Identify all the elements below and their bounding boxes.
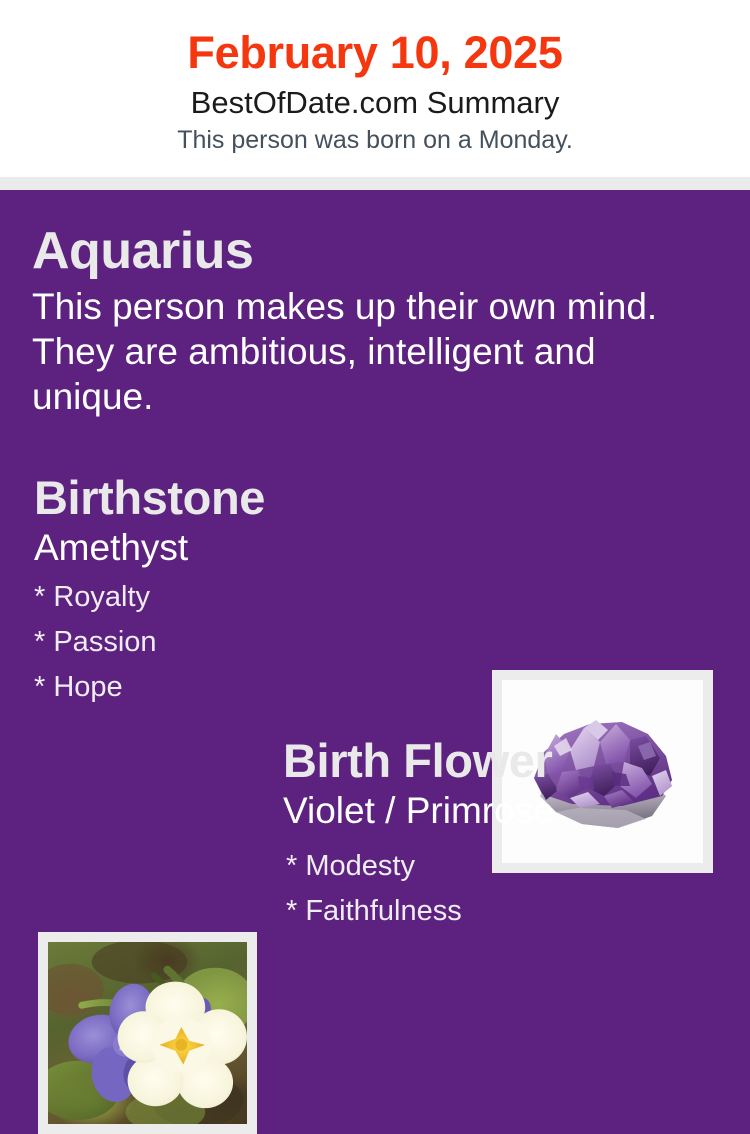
violet-and-primrose-icon <box>48 942 247 1124</box>
birthflower-heading: Birth Flower <box>283 734 733 788</box>
birthstone-trait-list: * Royalty * Passion * Hope <box>34 569 474 710</box>
content-panel: Aquarius This person makes up their own … <box>0 190 750 1000</box>
flower-photo <box>48 942 247 1124</box>
list-item: * Royalty <box>34 575 474 620</box>
list-item: * Modesty <box>283 844 733 889</box>
zodiac-sign-title: Aquarius <box>32 222 692 280</box>
birthflower-trait-list: * Modesty * Faithfulness <box>283 832 733 934</box>
list-item: * Hope <box>34 665 474 710</box>
list-item: * Passion <box>34 620 474 665</box>
zodiac-section: Aquarius This person makes up their own … <box>32 222 692 419</box>
birthflower-name: Violet / Primrose <box>283 788 733 832</box>
list-item: * Faithfulness <box>283 889 733 934</box>
page-title-date: February 10, 2025 <box>0 0 750 80</box>
birthstone-section: Birthstone Amethyst * Royalty * Passion … <box>34 471 474 710</box>
summary-card: February 10, 2025 BestOfDate.com Summary… <box>0 0 750 1000</box>
birth-day-note: This person was born on a Monday. <box>0 122 750 156</box>
birthstone-heading: Birthstone <box>34 471 474 525</box>
birthflower-image-frame <box>38 932 257 1134</box>
header-divider <box>0 177 750 190</box>
birthstone-name: Amethyst <box>34 525 474 569</box>
zodiac-description: This person makes up their own mind. The… <box>32 280 692 419</box>
site-name: BestOfDate.com Summary <box>0 80 750 122</box>
header: February 10, 2025 BestOfDate.com Summary… <box>0 0 750 177</box>
birthflower-section: Birth Flower Violet / Primrose * Modesty… <box>283 734 733 934</box>
